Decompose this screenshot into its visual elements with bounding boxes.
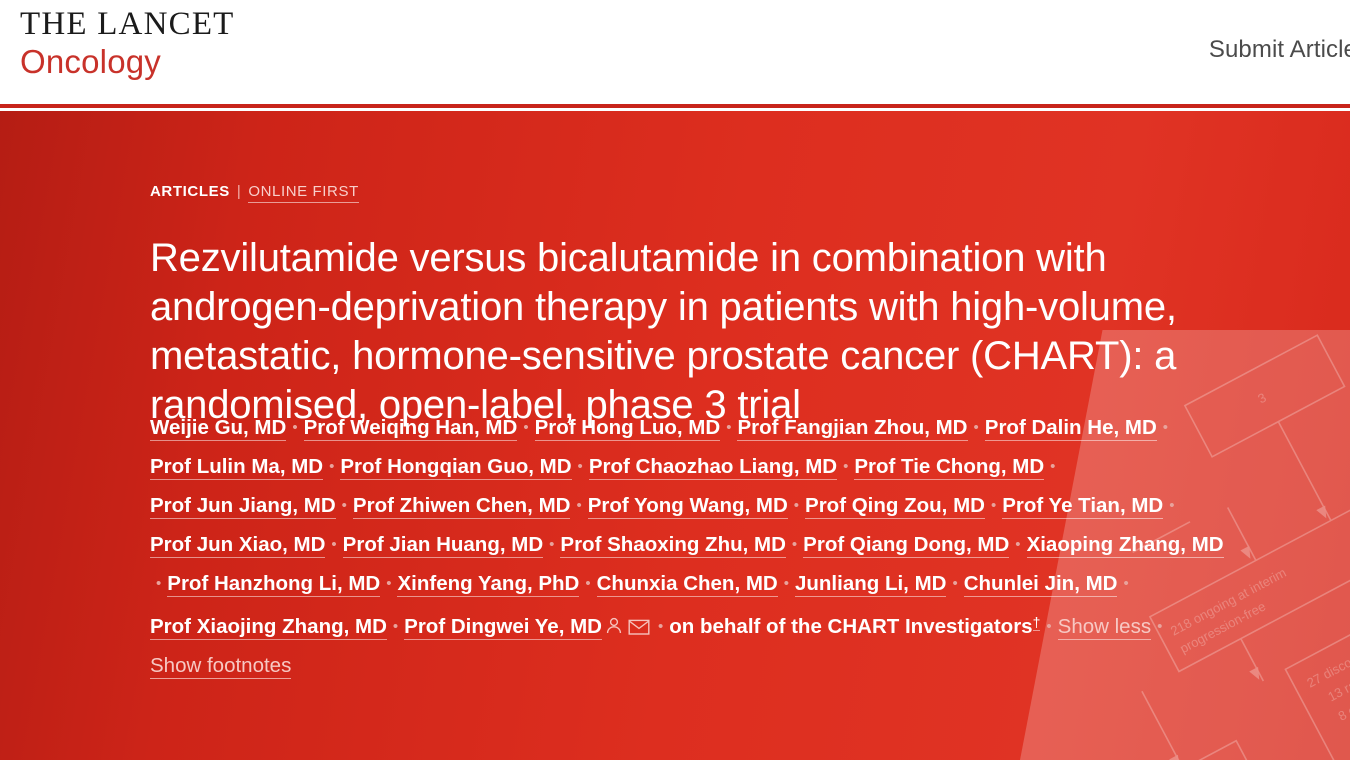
author-separator-dot: •: [523, 408, 528, 447]
author-link[interactable]: Prof Hanzhong Li, MD: [167, 572, 380, 597]
author-separator-dot: •: [576, 486, 581, 525]
author-link[interactable]: Prof Shaoxing Zhu, MD: [560, 533, 786, 558]
author-link[interactable]: Prof Dalin He, MD: [985, 416, 1157, 441]
author-separator-dot: •: [549, 525, 554, 564]
hero-content: ARTICLES|ONLINE FIRST Rezvilutamide vers…: [150, 111, 1250, 760]
author-link[interactable]: Prof Chaozhao Liang, MD: [589, 455, 837, 480]
logo-lancet-text: THE LANCET: [20, 8, 235, 41]
article-title: Rezvilutamide versus bicalutamide in com…: [150, 234, 1260, 430]
author-separator-dot: •: [578, 447, 583, 486]
author-separator-dot: •: [292, 408, 297, 447]
author-separator-dot: •: [1050, 447, 1055, 486]
author-separator-dot: •: [342, 486, 347, 525]
author-link[interactable]: Prof Jun Jiang, MD: [150, 494, 336, 519]
author-link[interactable]: Prof Zhiwen Chen, MD: [353, 494, 571, 519]
site-header: THE LANCET Oncology Submit Article: [0, 0, 1350, 104]
author-link[interactable]: Junliang Li, MD: [795, 572, 946, 597]
author-separator-dot: •: [843, 447, 848, 486]
author-separator-dot: •: [393, 607, 398, 646]
author-separator-dot: •: [1163, 408, 1168, 447]
author-link[interactable]: Prof Xiaojing Zhang, MD: [150, 615, 387, 640]
author-separator-dot: •: [331, 525, 336, 564]
kicker-articles-label: ARTICLES: [150, 183, 230, 200]
author-separator-dot: •: [1123, 564, 1128, 603]
author-link[interactable]: Prof Weiqing Han, MD: [304, 416, 518, 441]
svg-text:8 clinical progression: 8 clinical progression: [1336, 654, 1350, 724]
article-hero-banner: 3 218 ongoing at interim progression-fre…: [0, 111, 1350, 760]
author-separator-dot: •: [784, 564, 789, 603]
author-link[interactable]: Prof Fangjian Zhou, MD: [737, 416, 967, 441]
author-separator-dot: •: [1169, 486, 1174, 525]
author-link[interactable]: Weijie Gu, MD: [150, 416, 286, 441]
author-link[interactable]: Prof Hongqian Guo, MD: [340, 455, 571, 480]
kicker-separator: |: [237, 183, 242, 200]
author-separator-dot: •: [726, 408, 731, 447]
show-less-toggle[interactable]: Show less: [1058, 615, 1151, 640]
article-page: THE LANCET Oncology Submit Article: [0, 0, 1350, 760]
author-separator-dot: •: [974, 408, 979, 447]
author-separator-dot: •: [329, 447, 334, 486]
author-separator-dot: •: [1157, 607, 1162, 646]
author-link[interactable]: Chunlei Jin, MD: [964, 572, 1118, 597]
author-link[interactable]: Prof Jun Xiao, MD: [150, 533, 325, 558]
author-link[interactable]: Prof Lulin Ma, MD: [150, 455, 323, 480]
author-separator-dot: •: [991, 486, 996, 525]
author-link[interactable]: Prof Jian Huang, MD: [343, 533, 543, 558]
author-list: Weijie Gu, MD•Prof Weiqing Han, MD•Prof …: [150, 408, 1225, 685]
author-link[interactable]: Prof Qing Zou, MD: [805, 494, 985, 519]
author-separator-dot: •: [156, 564, 161, 603]
svg-text:13 radiographic: 13 radiographic: [1325, 649, 1350, 705]
author-separator-dot: •: [794, 486, 799, 525]
author-separator-dot: •: [386, 564, 391, 603]
svg-text:27 discontinued: 27 discontinued: [1304, 635, 1350, 691]
envelope-icon[interactable]: [628, 618, 650, 636]
person-icon[interactable]: [604, 616, 624, 636]
author-separator-dot: •: [952, 564, 957, 603]
header-rule-gap: [0, 108, 1350, 111]
show-footnotes-toggle[interactable]: Show footnotes: [150, 654, 291, 679]
article-type-kicker: ARTICLES|ONLINE FIRST: [150, 183, 359, 200]
footnote-dagger-marker[interactable]: †: [1033, 614, 1041, 631]
on-behalf-of-text: on behalf of the CHART Investigators: [669, 615, 1032, 638]
kicker-online-first-label[interactable]: ONLINE FIRST: [248, 183, 359, 203]
author-link[interactable]: Prof Yong Wang, MD: [588, 494, 788, 519]
author-link[interactable]: Xinfeng Yang, PhD: [397, 572, 579, 597]
author-link[interactable]: Prof Qiang Dong, MD: [803, 533, 1009, 558]
author-link[interactable]: Prof Dingwei Ye, MD: [404, 615, 602, 640]
author-separator-dot: •: [585, 564, 590, 603]
submit-article-link[interactable]: Submit Article: [1209, 36, 1350, 64]
author-link[interactable]: Xiaoping Zhang, MD: [1027, 533, 1224, 558]
author-separator-dot: •: [1015, 525, 1020, 564]
author-link[interactable]: Prof Tie Chong, MD: [854, 455, 1044, 480]
author-link[interactable]: Chunxia Chen, MD: [597, 572, 778, 597]
author-separator-dot: •: [792, 525, 797, 564]
author-separator-dot: •: [1046, 607, 1051, 646]
logo-oncology-text: Oncology: [20, 45, 235, 78]
author-separator-dot: •: [658, 607, 663, 646]
journal-logo[interactable]: THE LANCET Oncology: [20, 8, 235, 78]
author-link[interactable]: Prof Hong Luo, MD: [535, 416, 721, 441]
author-link[interactable]: Prof Ye Tian, MD: [1002, 494, 1163, 519]
